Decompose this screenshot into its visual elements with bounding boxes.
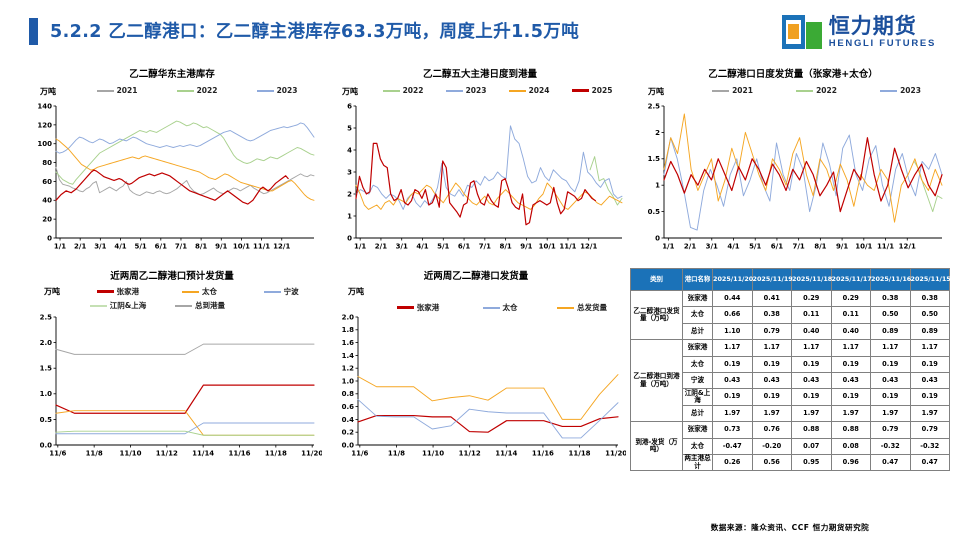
table-value-cell: 0.07: [792, 438, 832, 454]
svg-text:11/8: 11/8: [388, 450, 405, 458]
table-value-cell: 0.66: [713, 307, 753, 323]
table-value-cell: 0.19: [871, 389, 911, 405]
th-date: 2025/11/17: [831, 269, 871, 291]
th-category: 类别: [631, 269, 683, 291]
hengli-logo-icon: [782, 15, 822, 49]
svg-text:0.5: 0.5: [648, 208, 661, 216]
svg-text:11/8: 11/8: [86, 450, 103, 458]
table-value-cell: 0.47: [871, 454, 911, 470]
logo-english-name: HENGLI FUTURES: [829, 38, 936, 49]
chart-plot-arrivals: 65432101/12/13/14/15/16/17/18/19/110/111…: [330, 102, 630, 254]
table-value-cell: 1.97: [871, 405, 911, 421]
svg-text:2.5: 2.5: [648, 102, 661, 110]
svg-text:2: 2: [655, 129, 660, 137]
svg-text:12/1: 12/1: [273, 243, 290, 251]
legend-label: 2022: [403, 86, 424, 95]
svg-text:7/1: 7/1: [479, 243, 491, 251]
legend-label: 2022: [816, 86, 837, 95]
table-value-cell: 1.97: [910, 405, 950, 421]
legend-item: 太仓: [459, 302, 541, 313]
chart-title-forecast: 近两周乙二醇港口预计发货量: [22, 268, 322, 282]
svg-text:5/1: 5/1: [135, 243, 147, 251]
table-row: 乙二醇港口发货量（万吨）张家港0.440.410.290.290.380.38: [631, 291, 950, 307]
logo-chinese-name: 恒力期货: [829, 15, 936, 37]
table-value-cell: 0.89: [871, 323, 911, 339]
table-value-cell: -0.32: [871, 438, 911, 454]
svg-text:0.6: 0.6: [342, 403, 355, 411]
logo-text-block: 恒力期货 HENGLI FUTURES: [829, 15, 936, 49]
chart-panel-actual: 近两周乙二醇港口发货量 万吨 张家港 太仓 总发货量 2.01.81.61.41…: [326, 268, 626, 463]
legend-label: 2022: [197, 86, 218, 95]
table-value-cell: 1.17: [871, 340, 911, 356]
table-value-cell: 0.43: [831, 372, 871, 388]
legend-label: 张家港: [117, 286, 140, 297]
table-value-cell: 0.95: [792, 454, 832, 470]
svg-text:2/1: 2/1: [74, 243, 86, 251]
table-value-cell: 0.50: [910, 307, 950, 323]
table-row: 到港-发货（万吨）张家港0.730.760.880.880.790.79: [631, 422, 950, 438]
table-category-cell: 到港-发货（万吨）: [631, 422, 683, 471]
svg-text:1: 1: [347, 212, 352, 220]
legend-label: 2024: [529, 86, 550, 95]
table-value-cell: -0.47: [713, 438, 753, 454]
table-value-cell: 1.97: [792, 405, 832, 421]
table-value-cell: 0.19: [752, 356, 792, 372]
chart-legend-forecast: 张家港 太仓 宁波 江阴&上海 总到港量: [77, 286, 322, 311]
svg-text:1.4: 1.4: [342, 352, 355, 360]
table-port-cell: 两主港总计: [683, 454, 713, 470]
table-value-cell: 0.19: [910, 389, 950, 405]
svg-text:6/1: 6/1: [458, 243, 470, 251]
svg-text:10/1: 10/1: [855, 243, 872, 251]
table-value-cell: -0.32: [910, 438, 950, 454]
table-value-cell: 0.79: [752, 323, 792, 339]
table-category-cell: 乙二醇港口发货量（万吨）: [631, 291, 683, 340]
chart-plot-shipments: 2.521.510.501/12/13/14/15/16/17/18/19/11…: [634, 102, 952, 254]
table-value-cell: 0.43: [792, 372, 832, 388]
svg-text:4/1: 4/1: [727, 243, 739, 251]
table-category-cell: 乙二醇港口到港量（万吨）: [631, 340, 683, 422]
chart-panel-shipments: 乙二醇港口日度发货量（张家港+太仓） 万吨 2021 2022 2023 2.5…: [634, 66, 952, 256]
legend-item: 2024: [498, 86, 561, 95]
table-value-cell: 0.96: [831, 454, 871, 470]
chart-title-inventory: 乙二醇华东主港库存: [22, 66, 322, 80]
legend-label: 总到港量: [195, 300, 225, 311]
table-value-cell: 0.79: [910, 422, 950, 438]
svg-text:12/1: 12/1: [899, 243, 916, 251]
legend-item: 2022: [775, 86, 859, 95]
svg-text:40: 40: [42, 197, 52, 205]
table-value-cell: -0.20: [752, 438, 792, 454]
th-date: 2025/11/15: [910, 269, 950, 291]
svg-text:7/1: 7/1: [175, 243, 187, 251]
legend-label: 2023: [277, 86, 298, 95]
svg-text:0.2: 0.2: [342, 429, 355, 437]
table-value-cell: 0.19: [792, 356, 832, 372]
svg-text:0: 0: [347, 234, 352, 242]
svg-text:11/1: 11/1: [253, 243, 270, 251]
chart-unit-shipments: 万吨: [648, 86, 664, 97]
port-data-table: 类别 港口名称 2025/11/20 2025/11/19 2025/11/18…: [630, 268, 950, 471]
table-header-row: 类别 港口名称 2025/11/20 2025/11/19 2025/11/18…: [631, 269, 950, 291]
table-value-cell: 0.38: [752, 307, 792, 323]
svg-text:11/14: 11/14: [192, 450, 214, 458]
svg-text:1/1: 1/1: [54, 243, 66, 251]
svg-text:11/10: 11/10: [422, 450, 444, 458]
legend-label: 宁波: [284, 286, 299, 297]
table-value-cell: 1.97: [713, 405, 753, 421]
table-value-cell: 0.19: [752, 389, 792, 405]
svg-text:11/12: 11/12: [156, 450, 178, 458]
table-value-cell: 0.08: [831, 438, 871, 454]
table-head: 类别 港口名称 2025/11/20 2025/11/19 2025/11/18…: [631, 269, 950, 291]
svg-text:1: 1: [655, 182, 660, 190]
th-date: 2025/11/16: [871, 269, 911, 291]
legend-label: 2021: [117, 86, 138, 95]
svg-text:140: 140: [37, 102, 52, 110]
svg-text:20: 20: [42, 216, 52, 224]
legend-item: 2021: [77, 86, 157, 95]
table-value-cell: 0.19: [910, 356, 950, 372]
table-value-cell: 1.97: [752, 405, 792, 421]
table-value-cell: 0.11: [831, 307, 871, 323]
svg-text:10/1: 10/1: [539, 243, 556, 251]
svg-text:3/1: 3/1: [706, 243, 718, 251]
legend-item: 总发货量: [541, 302, 623, 313]
chart-panel-arrivals: 乙二醇五大主港日度到港量 万吨 2022 2023 2024 2025 6543…: [330, 66, 630, 256]
svg-text:1.0: 1.0: [40, 390, 53, 398]
svg-text:5: 5: [347, 124, 352, 132]
svg-text:11/20: 11/20: [605, 450, 626, 458]
svg-text:11/16: 11/16: [532, 450, 554, 458]
legend-item: 2022: [157, 86, 237, 95]
svg-text:4/1: 4/1: [114, 243, 126, 251]
svg-text:1.8: 1.8: [342, 326, 355, 334]
svg-text:8/1: 8/1: [814, 243, 826, 251]
title-accent-bar: [29, 18, 38, 45]
legend-item: 张家港: [77, 286, 159, 297]
table-port-cell: 江阴&上海: [683, 389, 713, 405]
svg-text:3/1: 3/1: [94, 243, 106, 251]
svg-text:11/18: 11/18: [265, 450, 287, 458]
table-value-cell: 1.17: [910, 340, 950, 356]
table-value-cell: 1.10: [713, 323, 753, 339]
legend-item: 总到港量: [159, 300, 241, 311]
legend-item: 2022: [372, 86, 435, 95]
table-value-cell: 0.41: [752, 291, 792, 307]
svg-text:1.6: 1.6: [342, 339, 355, 347]
legend-item: 2023: [237, 86, 317, 95]
chart-legend-actual: 张家港 太仓 总发货量: [376, 302, 624, 313]
svg-text:1.2: 1.2: [342, 365, 355, 373]
table-value-cell: 0.40: [792, 323, 832, 339]
svg-text:0.0: 0.0: [40, 441, 53, 449]
table-value-cell: 1.17: [713, 340, 753, 356]
svg-text:0: 0: [47, 234, 52, 242]
chart-title-arrivals: 乙二醇五大主港日度到港量: [330, 66, 630, 80]
table-value-cell: 0.19: [713, 356, 753, 372]
table-value-cell: 0.73: [713, 422, 753, 438]
table-value-cell: 0.29: [831, 291, 871, 307]
legend-label: 张家港: [417, 302, 440, 313]
svg-text:3/1: 3/1: [396, 243, 408, 251]
legend-item: 宁波: [240, 286, 322, 297]
th-date: 2025/11/19: [752, 269, 792, 291]
table-value-cell: 0.19: [713, 389, 753, 405]
table-port-cell: 张家港: [683, 291, 713, 307]
table-value-cell: 1.97: [831, 405, 871, 421]
chart-legend-arrivals: 2022 2023 2024 2025: [370, 86, 625, 95]
table-value-cell: 0.38: [910, 291, 950, 307]
chart-plot-inventory: 1401201008060402001/12/13/14/15/16/17/18…: [22, 102, 322, 254]
slide-header: 5.2.2 乙二醇港口：乙二醇主港库存63.3万吨，周度上升1.5万吨 恒力期货…: [0, 0, 960, 62]
svg-text:2/1: 2/1: [684, 243, 696, 251]
table-value-cell: 0.89: [910, 323, 950, 339]
table-port-cell: 太仓: [683, 356, 713, 372]
legend-label: 2023: [466, 86, 487, 95]
company-logo: 恒力期货 HENGLI FUTURES: [782, 15, 936, 49]
svg-text:11/1: 11/1: [877, 243, 894, 251]
svg-text:7/1: 7/1: [793, 243, 805, 251]
table-port-cell: 张家港: [683, 422, 713, 438]
svg-text:120: 120: [37, 121, 52, 129]
svg-text:9/1: 9/1: [215, 243, 227, 251]
svg-text:9/1: 9/1: [836, 243, 848, 251]
legend-label: 2023: [900, 86, 921, 95]
svg-text:8/1: 8/1: [499, 243, 511, 251]
svg-text:6: 6: [347, 102, 352, 110]
svg-text:1.5: 1.5: [40, 365, 53, 373]
th-port: 港口名称: [683, 269, 713, 291]
table-value-cell: 0.19: [792, 389, 832, 405]
svg-text:10/1: 10/1: [233, 243, 250, 251]
legend-item: 2025: [561, 86, 624, 95]
table-row: 乙二醇港口到港量（万吨）张家港1.171.171.171.171.171.17: [631, 340, 950, 356]
legend-item: 太仓: [159, 286, 241, 297]
svg-text:2/1: 2/1: [375, 243, 387, 251]
table-value-cell: 0.56: [752, 454, 792, 470]
table-value-cell: 0.19: [871, 356, 911, 372]
table-value-cell: 0.43: [910, 372, 950, 388]
chart-plot-forecast: 2.52.01.51.00.50.011/611/811/1011/1211/1…: [22, 313, 322, 461]
th-date: 2025/11/20: [713, 269, 753, 291]
legend-item: 2023: [859, 86, 943, 95]
svg-text:2: 2: [347, 190, 352, 198]
chart-title-shipments: 乙二醇港口日度发货量（张家港+太仓）: [634, 66, 952, 80]
chart-panel-inventory: 乙二醇华东主港库存 万吨 2021 2022 2023 140120100806…: [22, 66, 322, 256]
legend-item: 江阴&上海: [77, 300, 159, 311]
svg-text:11/12: 11/12: [459, 450, 481, 458]
svg-text:2.0: 2.0: [40, 339, 53, 347]
table-value-cell: 0.43: [871, 372, 911, 388]
table-value-cell: 0.76: [752, 422, 792, 438]
svg-text:0: 0: [655, 234, 660, 242]
table-value-cell: 0.79: [871, 422, 911, 438]
svg-text:11/20: 11/20: [301, 450, 322, 458]
table-value-cell: 0.44: [713, 291, 753, 307]
legend-item: 张家港: [377, 302, 459, 313]
source-note: 数据来源：隆众资讯、CCF 恒力期货研究院: [630, 522, 950, 533]
svg-text:11/10: 11/10: [119, 450, 141, 458]
chart-unit-inventory: 万吨: [40, 86, 56, 97]
svg-text:0.8: 0.8: [342, 390, 355, 398]
svg-text:4: 4: [347, 146, 352, 154]
svg-text:1.0: 1.0: [342, 377, 355, 385]
svg-text:6/1: 6/1: [771, 243, 783, 251]
table-port-cell: 总计: [683, 405, 713, 421]
table-port-cell: 太仓: [683, 307, 713, 323]
chart-unit-actual: 万吨: [348, 286, 364, 297]
legend-item: 2021: [691, 86, 775, 95]
svg-text:100: 100: [37, 140, 52, 148]
svg-text:1/1: 1/1: [662, 243, 674, 251]
legend-label: 2025: [592, 86, 613, 95]
th-date: 2025/11/18: [792, 269, 832, 291]
port-data-table-wrap: 类别 港口名称 2025/11/20 2025/11/19 2025/11/18…: [630, 268, 950, 471]
table-value-cell: 0.19: [831, 389, 871, 405]
legend-label: 2021: [732, 86, 753, 95]
chart-legend-inventory: 2021 2022 2023: [77, 86, 317, 95]
table-value-cell: 0.43: [752, 372, 792, 388]
table-value-cell: 0.50: [871, 307, 911, 323]
svg-text:5/1: 5/1: [437, 243, 449, 251]
table-value-cell: 0.88: [792, 422, 832, 438]
svg-text:80: 80: [42, 159, 52, 167]
table-value-cell: 0.29: [792, 291, 832, 307]
legend-label: 总发货量: [577, 302, 607, 313]
chart-unit-arrivals: 万吨: [342, 86, 358, 97]
svg-text:8/1: 8/1: [195, 243, 207, 251]
table-value-cell: 1.17: [792, 340, 832, 356]
svg-text:12/1: 12/1: [580, 243, 597, 251]
svg-text:11/6: 11/6: [351, 450, 368, 458]
svg-text:0.5: 0.5: [40, 416, 53, 424]
svg-text:9/1: 9/1: [520, 243, 532, 251]
table-port-cell: 张家港: [683, 340, 713, 356]
table-value-cell: 0.26: [713, 454, 753, 470]
table-value-cell: 0.40: [831, 323, 871, 339]
table-value-cell: 0.88: [831, 422, 871, 438]
table-value-cell: 0.11: [792, 307, 832, 323]
table-value-cell: 0.19: [831, 356, 871, 372]
chart-unit-forecast: 万吨: [44, 286, 60, 297]
svg-text:0.0: 0.0: [342, 441, 355, 449]
svg-text:6/1: 6/1: [155, 243, 167, 251]
table-value-cell: 0.43: [713, 372, 753, 388]
table-value-cell: 0.47: [910, 454, 950, 470]
legend-item: 2023: [435, 86, 498, 95]
svg-text:11/6: 11/6: [49, 450, 66, 458]
svg-text:4/1: 4/1: [416, 243, 428, 251]
legend-label: 江阴&上海: [110, 300, 147, 311]
svg-text:1.5: 1.5: [648, 155, 661, 163]
chart-legend-shipments: 2021 2022 2023: [689, 86, 944, 95]
svg-text:1/1: 1/1: [354, 243, 366, 251]
svg-text:11/18: 11/18: [569, 450, 591, 458]
svg-text:0.4: 0.4: [342, 416, 355, 424]
legend-label: 太仓: [503, 302, 518, 313]
svg-text:11/14: 11/14: [495, 450, 517, 458]
chart-plot-actual: 2.01.81.61.41.21.00.80.60.40.20.011/611/…: [326, 313, 626, 461]
page-title: 5.2.2 乙二醇港口：乙二醇主港库存63.3万吨，周度上升1.5万吨: [50, 18, 579, 43]
chart-panel-forecast: 近两周乙二醇港口预计发货量 万吨 张家港 太仓 宁波: [22, 268, 322, 463]
svg-text:5/1: 5/1: [749, 243, 761, 251]
svg-text:60: 60: [42, 178, 52, 186]
table-body: 乙二醇港口发货量（万吨）张家港0.440.410.290.290.380.38太…: [631, 291, 950, 471]
svg-text:2.0: 2.0: [342, 313, 355, 321]
legend-label: 太仓: [202, 286, 217, 297]
chart-title-actual: 近两周乙二醇港口发货量: [326, 268, 626, 282]
slide-root: 5.2.2 乙二醇港口：乙二醇主港库存63.3万吨，周度上升1.5万吨 恒力期货…: [0, 0, 960, 540]
table-port-cell: 太仓: [683, 438, 713, 454]
table-port-cell: 总计: [683, 323, 713, 339]
table-value-cell: 1.17: [752, 340, 792, 356]
table-port-cell: 宁波: [683, 372, 713, 388]
svg-text:3: 3: [347, 168, 352, 176]
table-value-cell: 0.38: [871, 291, 911, 307]
table-value-cell: 1.17: [831, 340, 871, 356]
svg-text:2.5: 2.5: [40, 313, 53, 321]
svg-text:11/16: 11/16: [228, 450, 250, 458]
svg-text:11/1: 11/1: [559, 243, 576, 251]
